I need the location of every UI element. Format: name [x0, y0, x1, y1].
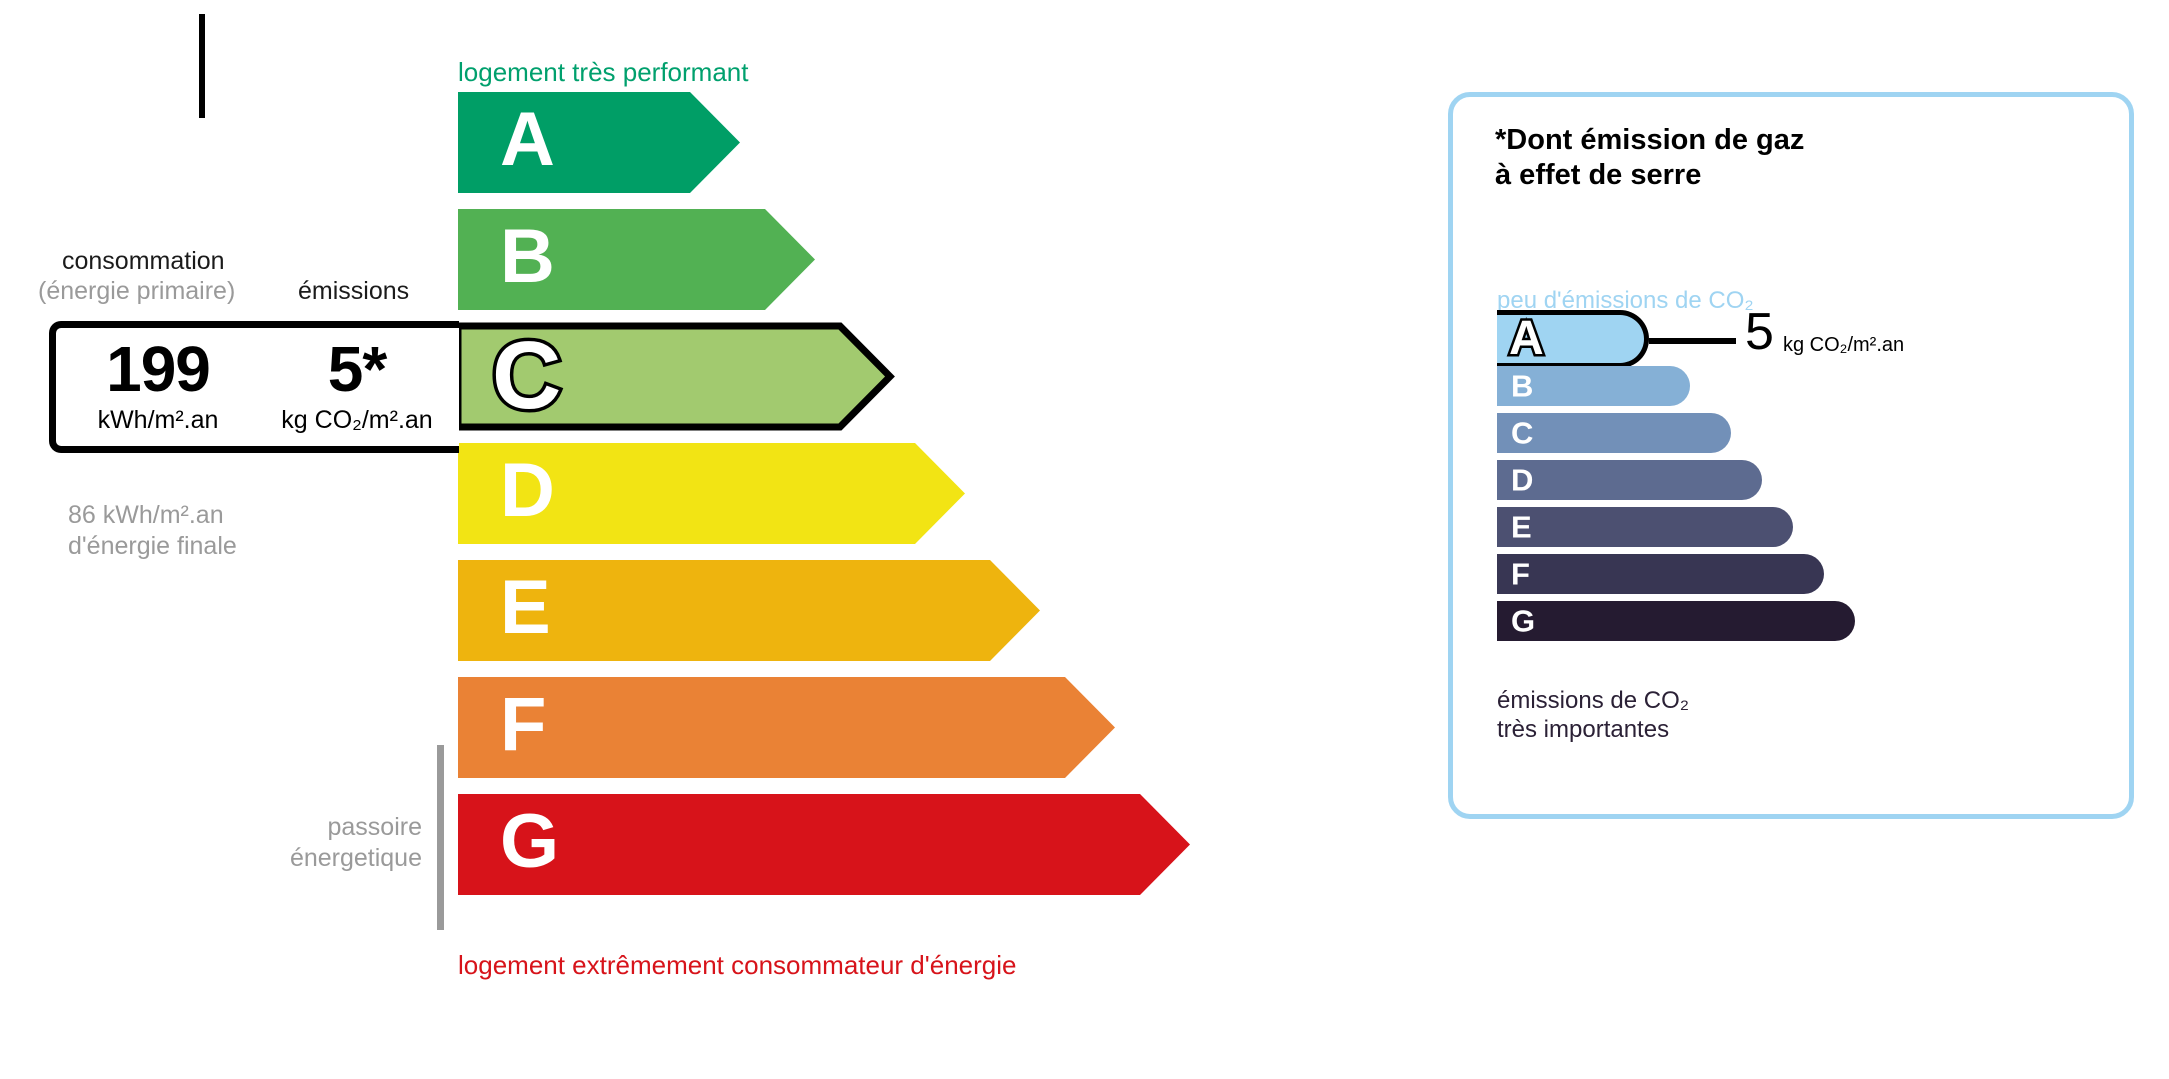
co2-scale-bottom-label: émissions de CO₂ très importantes: [1497, 686, 1689, 745]
co2-bottom-line2: très importantes: [1497, 715, 1689, 744]
co2-grade-letter-b: B: [1511, 371, 1533, 402]
co2-title-line2: à effet de serre: [1495, 158, 1804, 193]
energy-scale-bottom-label: logement extrêmement consommateur d'éner…: [458, 950, 1016, 981]
passoire-line2: énergetique: [200, 843, 422, 874]
label-consommation: consommation: [62, 247, 225, 276]
co2-grade-letter-f: F: [1511, 559, 1530, 590]
energy-grade-arrow-f: [458, 677, 1115, 778]
co2-emissions-panel: *Dont émission de gaz à effet de serre p…: [1448, 92, 2134, 819]
emission-unit: kg CO₂/m².an: [281, 406, 432, 435]
consumption-value: 199: [106, 339, 210, 400]
energy-grade-arrow-b: [458, 209, 815, 310]
co2-grade-letter-d: D: [1511, 465, 1533, 496]
co2-panel-title: *Dont émission de gaz à effet de serre: [1495, 123, 1804, 194]
co2-value-leader-line: [1649, 338, 1736, 344]
consumption-value-cell: 199 kWh/m².an: [56, 328, 260, 446]
co2-grade-letter-g: G: [1511, 606, 1535, 637]
energy-value-box: 199 kWh/m².an 5* kg CO₂/m².an: [49, 321, 459, 453]
consumption-unit: kWh/m².an: [98, 406, 219, 435]
value-box-divider: [199, 14, 205, 118]
energy-grade-arrow-g: [458, 794, 1190, 895]
co2-grade-bar-e: [1497, 507, 1793, 547]
final-energy-line2: d'énergie finale: [68, 531, 237, 562]
co2-measured-unit: kg CO₂/m².an: [1783, 334, 1904, 357]
label-energie-primaire: (énergie primaire): [38, 277, 235, 306]
co2-grade-letter-a: A: [1509, 315, 1544, 363]
energy-grade-arrow-c: [452, 320, 896, 433]
co2-grade-bar-g: [1497, 601, 1855, 641]
passoire-energetique-label: passoire énergetique: [200, 812, 422, 874]
energy-grade-arrow-e: [458, 560, 1040, 661]
co2-grade-letter-e: E: [1511, 512, 1532, 543]
energy-grade-arrow-d: [458, 443, 965, 544]
final-energy-line1: 86 kWh/m².an: [68, 500, 237, 531]
label-emissions: émissions: [298, 277, 409, 306]
co2-bottom-line1: émissions de CO₂: [1497, 686, 1689, 715]
emission-value-cell: 5* kg CO₂/m².an: [262, 328, 452, 446]
final-energy-note: 86 kWh/m².an d'énergie finale: [68, 500, 237, 562]
co2-grade-letter-c: C: [1511, 418, 1533, 449]
co2-grade-bar-f: [1497, 554, 1824, 594]
passoire-line1: passoire: [200, 812, 422, 843]
passoire-bracket-line: [437, 745, 444, 930]
dpe-diagram: logement très performant ABCDEFG logemen…: [0, 0, 2169, 1079]
co2-grade-bar-d: [1497, 460, 1762, 500]
energy-scale-top-label: logement très performant: [458, 57, 748, 88]
energy-grade-arrow-a: [458, 92, 740, 193]
emission-value: 5*: [328, 339, 387, 400]
co2-title-line1: *Dont émission de gaz: [1495, 123, 1804, 158]
co2-measured-value: 5: [1745, 306, 1774, 358]
energy-consumption-panel: logement très performant ABCDEFG logemen…: [0, 0, 1400, 1079]
